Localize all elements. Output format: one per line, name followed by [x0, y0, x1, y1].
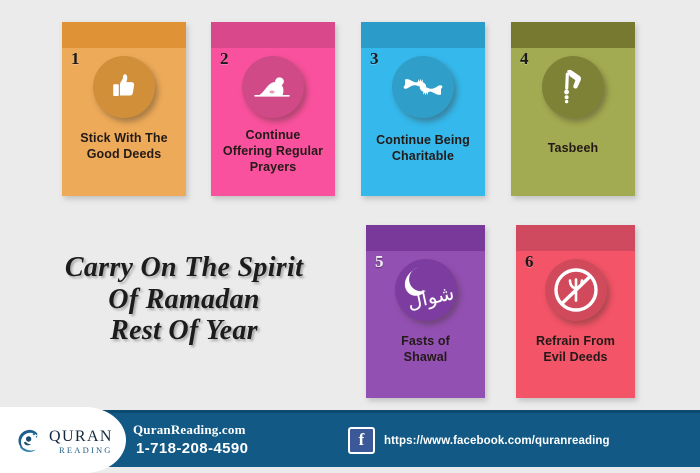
quran-reading-logo[interactable]: QURAN READING [14, 427, 113, 457]
card-6-label-line2: Evil Deeds [543, 350, 607, 364]
card-2-icon-wrap [211, 56, 335, 118]
facebook-url[interactable]: https://www.facebook.com/quranreading [384, 435, 610, 447]
praying-person-icon [242, 56, 304, 118]
card-2-header-band [211, 22, 335, 48]
quran-reading-logo-mark [14, 427, 44, 457]
logo-reading-text: READING [59, 446, 113, 455]
card-4-header-band [511, 22, 635, 48]
card-3-label-line1: Continue Being [376, 133, 470, 147]
card-2-number: 2 [220, 50, 229, 67]
card-1-label-line1: Stick With The [80, 131, 167, 145]
card-5-label-line2: Shawal [404, 350, 448, 364]
card-1-stick-with-the-good-deeds[interactable]: 1 Stick With The Good Deeds [62, 22, 186, 196]
card-3-label: Continue Being Charitable [365, 132, 481, 164]
giving-hands-icon [392, 56, 454, 118]
card-3-header-band [361, 22, 485, 48]
card-6-refrain-from-evil-deeds[interactable]: 6 Refrain From Evil Deeds [516, 225, 635, 398]
logo-quran-text: QURAN [49, 429, 113, 445]
infographic-canvas: 1 Stick With The Good Deeds 2 [0, 0, 700, 467]
card-3-number: 3 [370, 50, 379, 67]
card-1-label-line2: Good Deeds [87, 147, 162, 161]
card-3-label-line2: Charitable [392, 149, 454, 163]
page-title: Carry On The Spirit Of Ramadan Rest Of Y… [8, 252, 360, 347]
card-1-icon-wrap [62, 56, 186, 118]
card-5-label-line1: Fasts of [401, 334, 450, 348]
crescent-moon-shawal-icon: شوال [395, 259, 457, 321]
card-2-label: Continue Offering Regular Prayers [215, 127, 331, 175]
card-4-icon-wrap [511, 56, 635, 118]
card-1-number: 1 [71, 50, 80, 67]
prayer-beads-icon [542, 56, 604, 118]
footer-bar: QURAN READING QuranReading.com 1-718-208… [0, 410, 700, 467]
card-5-header-band [366, 225, 485, 251]
card-5-number: 5 [375, 253, 384, 270]
footer-phone[interactable]: 1-718-208-4590 [136, 440, 248, 457]
no-devil-prohibition-icon [545, 259, 607, 321]
card-5-label: Fasts of Shawal [370, 333, 481, 365]
logo-wordmark: QURAN READING [49, 429, 113, 455]
card-2-continue-offering-regular-prayers[interactable]: 2 Continue Offering Regular Prayers [211, 22, 335, 196]
facebook-icon[interactable]: f [348, 427, 375, 454]
page-title-line2: Of Ramadan [8, 284, 360, 316]
card-6-icon-wrap [516, 259, 635, 321]
page-title-line3: Rest Of Year [8, 315, 360, 347]
card-5-fasts-of-shawal[interactable]: 5 شوال Fasts of Shawal [366, 225, 485, 398]
card-4-label: Tasbeeh [515, 140, 631, 156]
card-4-tasbeeh[interactable]: 4 Tasbeeh [511, 22, 635, 196]
card-1-header-band [62, 22, 186, 48]
card-6-header-band [516, 225, 635, 251]
card-6-label-line1: Refrain From [536, 334, 615, 348]
card-2-label-line1: Continue [246, 128, 301, 142]
card-3-icon-wrap [361, 56, 485, 118]
card-4-label-line1: Tasbeeh [548, 141, 599, 155]
thumbs-up-icon [93, 56, 155, 118]
card-6-number: 6 [525, 253, 534, 270]
page-title-line1: Carry On The Spirit [8, 252, 360, 284]
card-2-label-line2: Offering Regular [223, 144, 323, 158]
card-3-continue-being-charitable[interactable]: 3 Continue Being Charitable [361, 22, 485, 196]
card-6-label: Refrain From Evil Deeds [520, 333, 631, 365]
card-4-number: 4 [520, 50, 529, 67]
card-2-label-line3: Prayers [250, 160, 297, 174]
footer-website[interactable]: QuranReading.com [133, 422, 246, 438]
facebook-icon-glyph: f [350, 430, 373, 450]
card-1-label: Stick With The Good Deeds [66, 130, 182, 162]
facebook-link-block[interactable]: f https://www.facebook.com/quranreading [348, 427, 610, 454]
